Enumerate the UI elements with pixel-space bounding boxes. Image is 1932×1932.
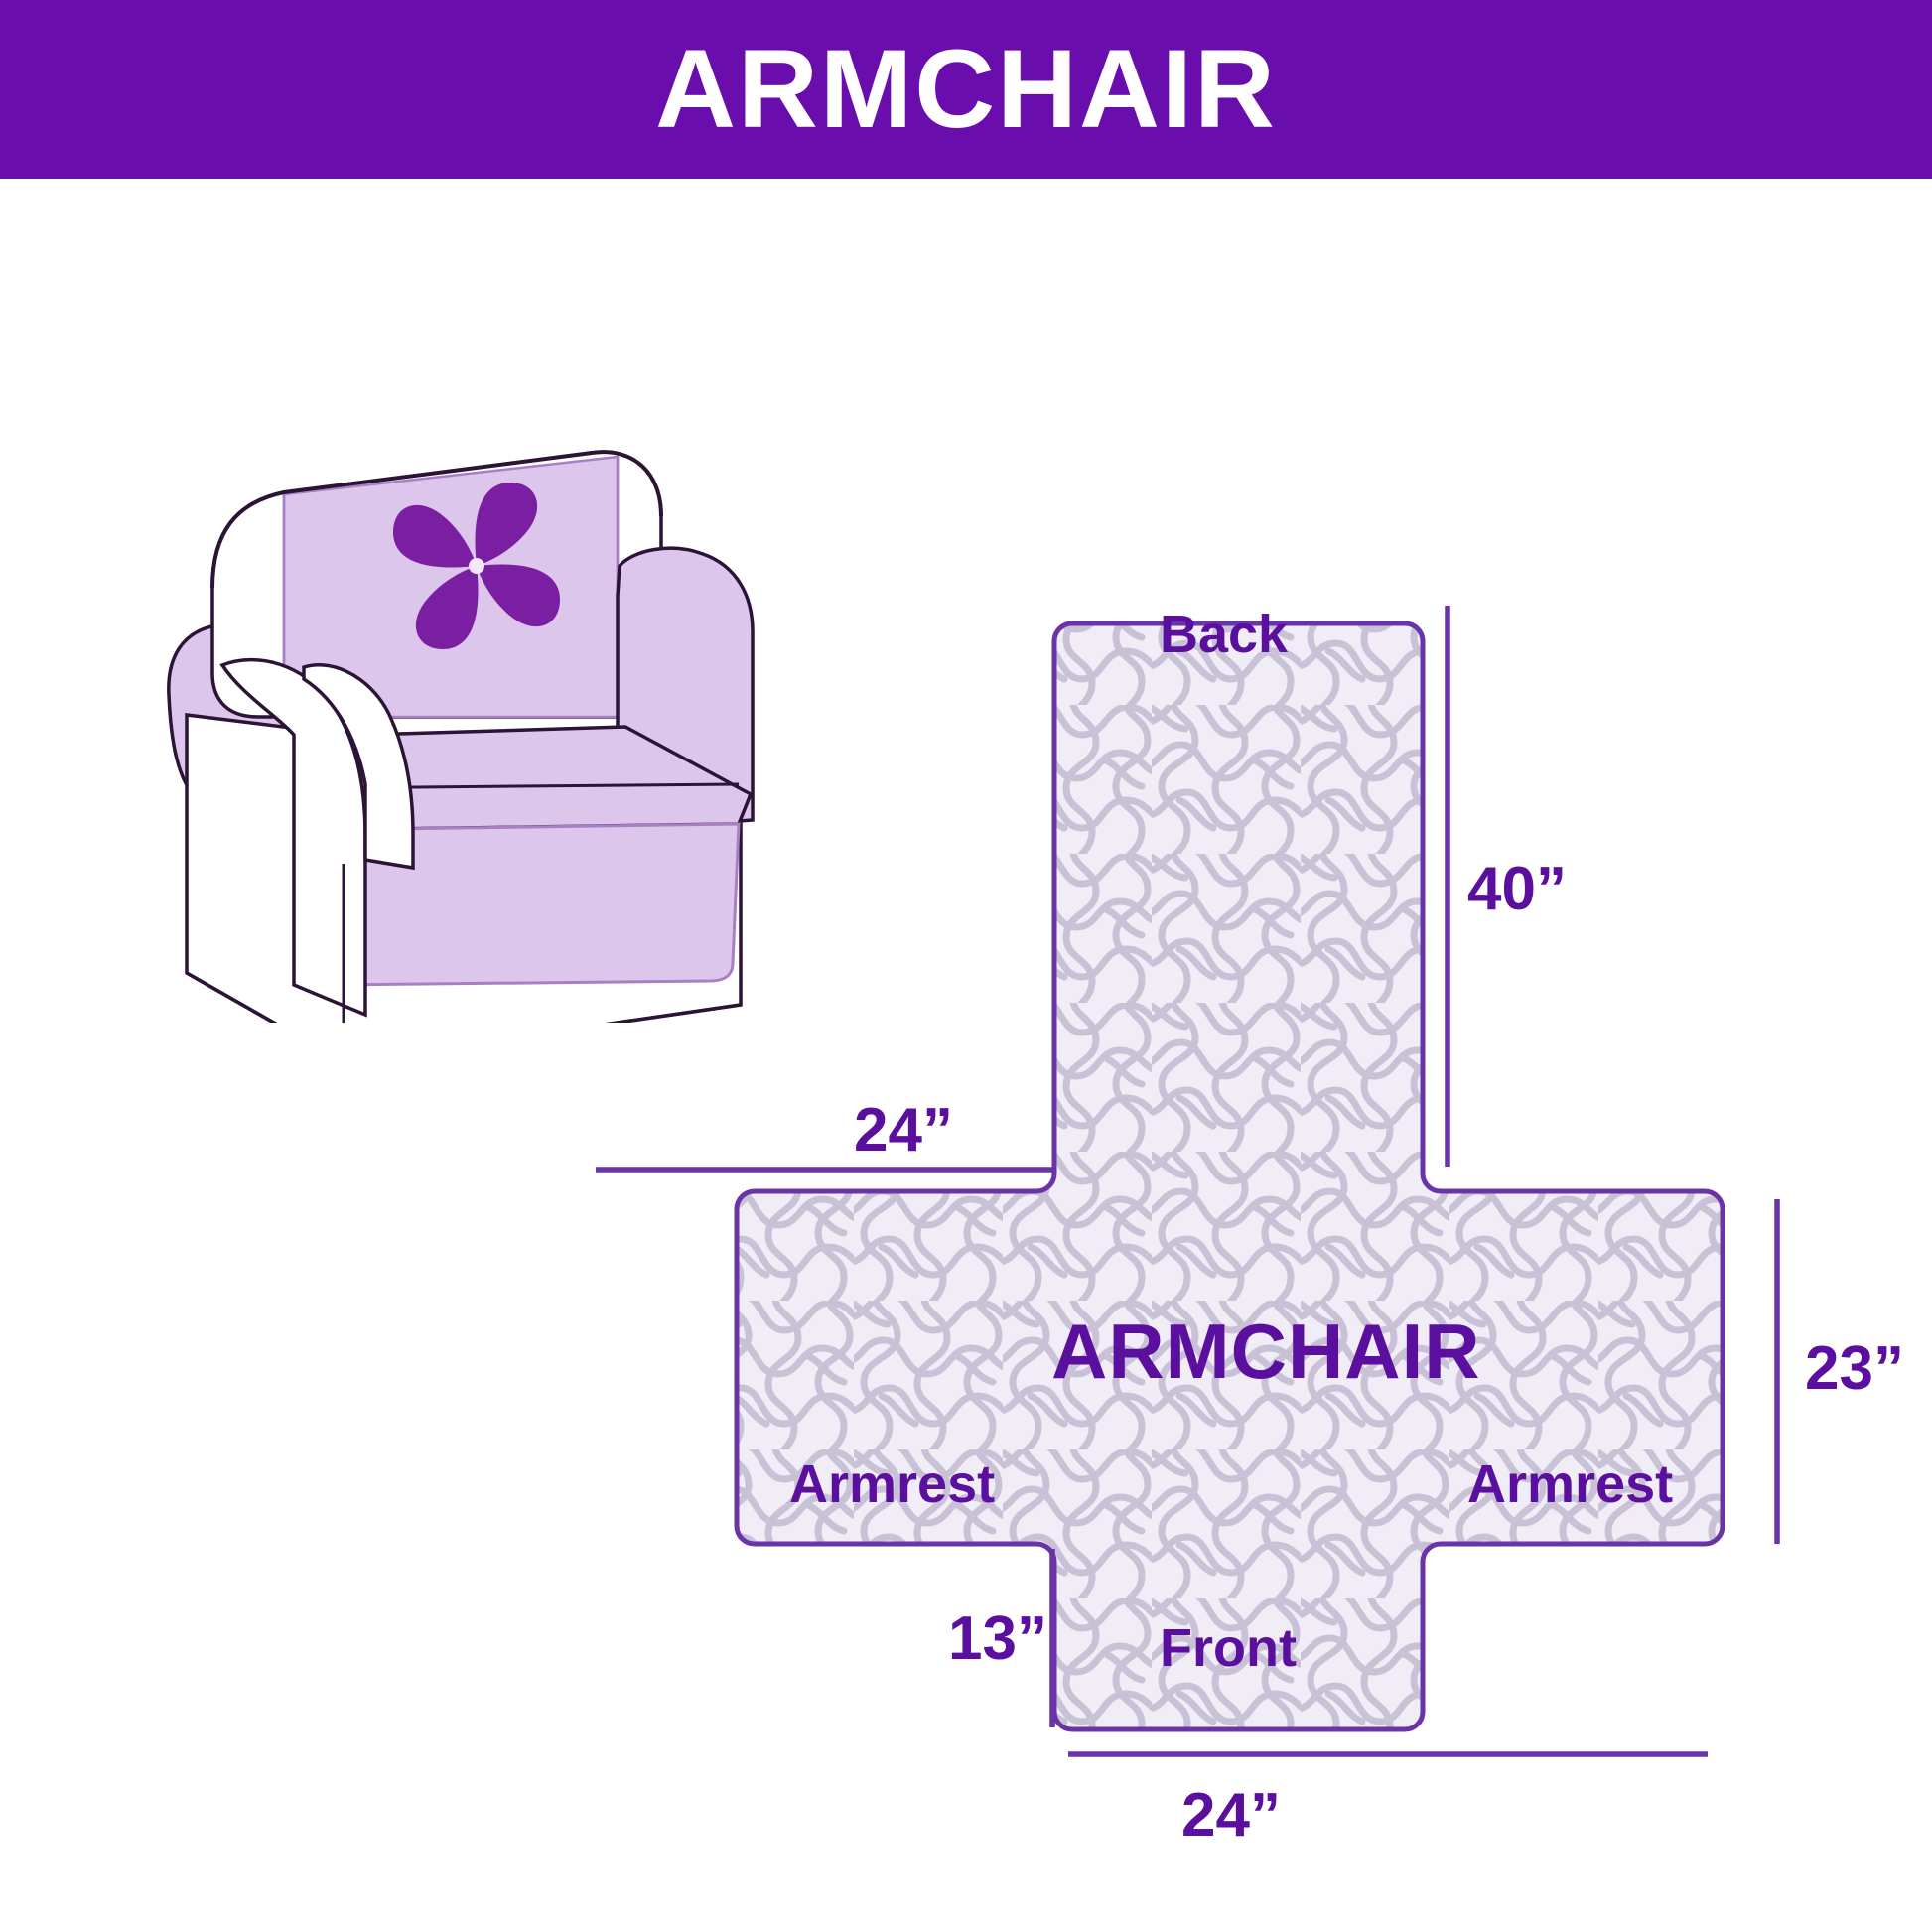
panel-label-armrest-left: Armrest xyxy=(789,1457,995,1511)
product-dimension-infographic: ARMCHAIR xyxy=(0,0,1932,1932)
dimension-label-back-height: 40” xyxy=(1467,859,1567,920)
panel-label-armrest-right: Armrest xyxy=(1467,1457,1673,1511)
cover-cross-shape xyxy=(737,623,1723,1729)
dimension-label-armrest-width: 24” xyxy=(854,1100,953,1162)
page-title: ARMCHAIR xyxy=(655,34,1277,145)
panel-label-back: Back xyxy=(1160,608,1288,661)
dimension-label-front-width: 24” xyxy=(1181,1785,1281,1847)
dimension-label-center-height: 23” xyxy=(1805,1338,1904,1400)
panel-label-front: Front xyxy=(1160,1621,1297,1675)
panel-label-armchair: ARMCHAIR xyxy=(1051,1312,1481,1390)
header-banner: ARMCHAIR xyxy=(0,0,1932,179)
dimension-label-front-height: 13” xyxy=(948,1608,1047,1670)
